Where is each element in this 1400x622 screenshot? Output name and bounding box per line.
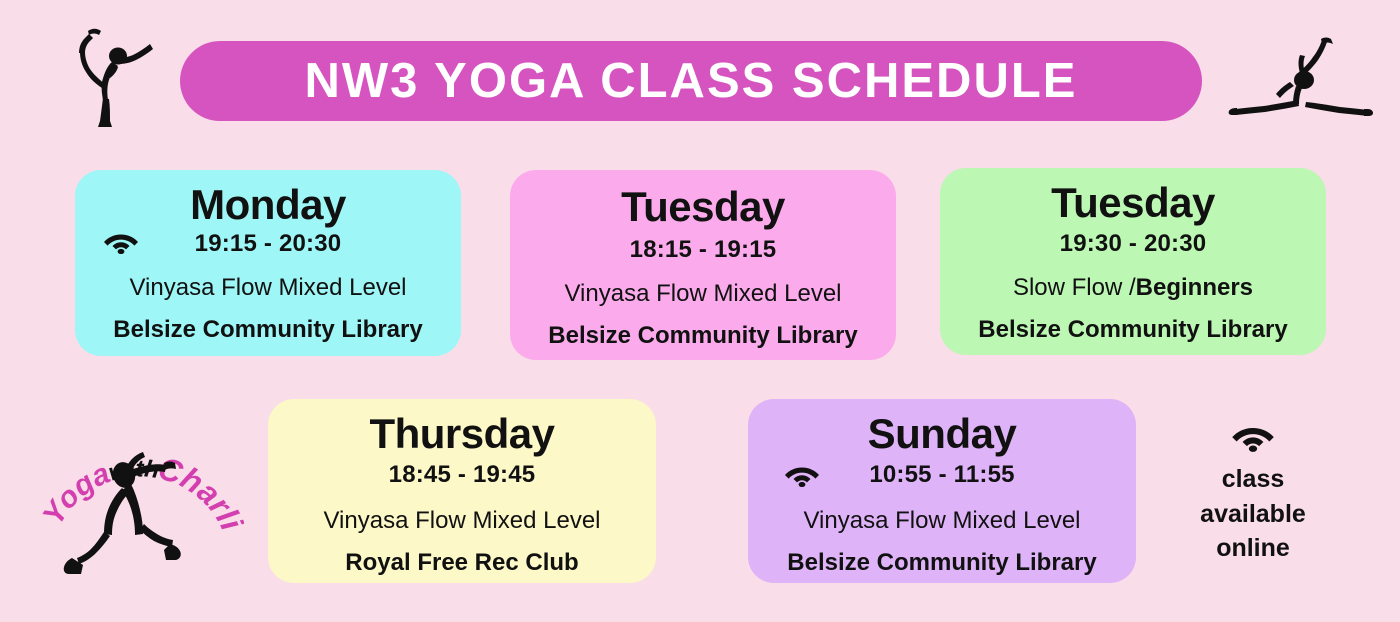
card-venue-label: Belsize Community Library — [548, 322, 857, 350]
card-day-label: Thursday — [369, 413, 554, 455]
card-time-label: 10:55 - 11:55 — [869, 461, 1014, 489]
card-venue-label: Belsize Community Library — [978, 316, 1287, 344]
card-venue-label: Belsize Community Library — [787, 549, 1096, 577]
wifi-icon — [103, 228, 139, 254]
wifi-icon — [784, 461, 820, 487]
page-title: NW3 YOGA CLASS SCHEDULE — [305, 53, 1078, 109]
card-venue-label: Royal Free Rec Club — [345, 549, 578, 577]
header-banner: NW3 YOGA CLASS SCHEDULE — [180, 41, 1202, 121]
card-venue-label: Belsize Community Library — [113, 316, 422, 344]
wifi-icon — [1231, 420, 1275, 450]
online-legend: class available online — [1178, 420, 1328, 566]
card-time-label: 19:15 - 20:30 — [195, 230, 342, 258]
class-card-tuesday-early[interactable]: Tuesday 18:15 - 19:15 Vinyasa Flow Mixed… — [510, 170, 896, 360]
class-card-monday[interactable]: Monday 19:15 - 20:30 Vinyasa Flow Mixed … — [75, 170, 461, 356]
card-time-label: 18:15 - 19:15 — [630, 236, 777, 264]
legend-line-1: class — [1200, 462, 1306, 497]
legend-text: class available online — [1200, 462, 1306, 566]
card-class-label: Vinyasa Flow Mixed Level — [564, 280, 841, 308]
card-time-row: 18:15 - 19:15 — [510, 236, 896, 264]
card-day-label: Sunday — [868, 413, 1017, 455]
class-card-thursday[interactable]: Thursday 18:45 - 19:45 Vinyasa Flow Mixe… — [268, 399, 656, 583]
logo-word-yoga: Yoga — [37, 457, 115, 531]
card-class-label: Vinyasa Flow Mixed Level — [803, 507, 1080, 535]
card-time-row: 19:15 - 20:30 — [75, 230, 461, 258]
card-time-label: 18:45 - 19:45 — [389, 461, 536, 489]
class-card-sunday[interactable]: Sunday 10:55 - 11:55 Vinyasa Flow Mixed … — [748, 399, 1136, 583]
yoga-with-charli-logo: Yoga with Charli — [36, 412, 244, 584]
card-day-label: Tuesday — [1051, 182, 1215, 224]
legend-line-3: online — [1200, 531, 1306, 566]
class-card-tuesday-late[interactable]: Tuesday 19:30 - 20:30 Slow Flow /Beginne… — [940, 168, 1326, 355]
card-time-row: 19:30 - 20:30 — [940, 230, 1326, 258]
card-class-label: Vinyasa Flow Mixed Level — [129, 274, 406, 302]
legend-line-2: available — [1200, 497, 1306, 532]
card-class-label: Vinyasa Flow Mixed Level — [323, 507, 600, 535]
card-day-label: Tuesday — [621, 186, 785, 228]
svg-text:Yoga: Yoga — [37, 457, 115, 531]
card-class-label: Slow Flow /Beginners — [1013, 274, 1253, 302]
yoga-splits-pose-silhouette-icon — [1228, 36, 1373, 121]
card-day-label: Monday — [190, 184, 346, 226]
card-time-row: 10:55 - 11:55 — [748, 461, 1136, 489]
card-time-label: 19:30 - 20:30 — [1060, 230, 1207, 258]
card-time-row: 18:45 - 19:45 — [268, 461, 656, 489]
yoga-dancer-pose-silhouette-icon — [62, 24, 157, 129]
